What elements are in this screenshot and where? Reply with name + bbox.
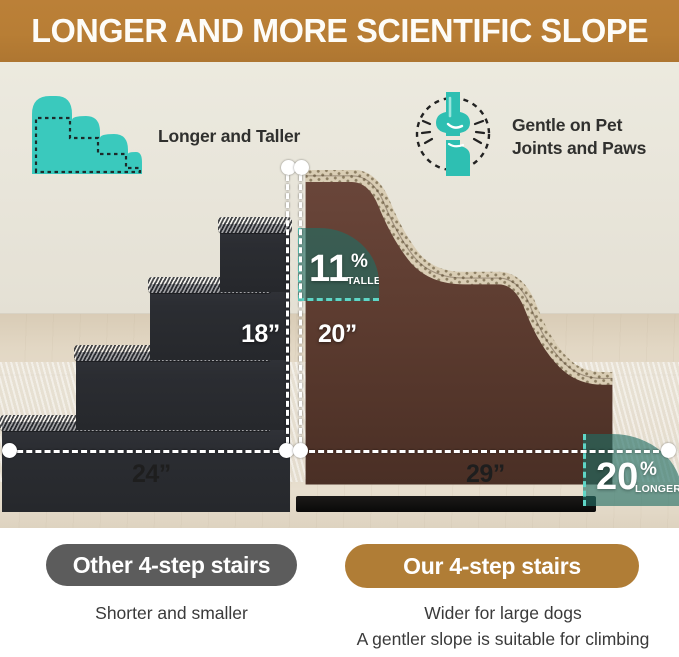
our-caption-line2: A gentler slope is suitable for climbing bbox=[333, 626, 673, 652]
taller-badge-unit: % bbox=[351, 252, 368, 271]
longer-badge-caption: LONGER bbox=[635, 484, 679, 495]
other-stairs-step-1 bbox=[2, 422, 290, 512]
our-stairs-base bbox=[296, 496, 596, 512]
feature-label-longer-taller: Longer and Taller bbox=[158, 125, 300, 147]
other-stairs-step-4-top bbox=[218, 217, 292, 233]
page-title: LONGER AND MORE SCIENTIFIC SLOPE bbox=[31, 12, 648, 50]
our-stairs-caption: Wider for large dogs A gentler slope is … bbox=[333, 600, 673, 653]
comparison-section: Other 4-step stairs Our 4-step stairs Sh… bbox=[0, 528, 679, 657]
feature-longer-taller: Longer and Taller bbox=[28, 92, 300, 181]
our-stairs-product bbox=[296, 170, 622, 512]
other-stairs-step-3 bbox=[150, 284, 290, 360]
stairs-comparison-icon bbox=[28, 92, 144, 181]
other-caption-line1: Shorter and smaller bbox=[30, 600, 313, 626]
taller-badge-value: 11 bbox=[309, 250, 349, 288]
other-stairs-pill: Other 4-step stairs bbox=[46, 544, 297, 586]
infographic-root: LONGER AND MORE SCIENTIFIC SLOPE Longer … bbox=[0, 0, 679, 657]
longer-badge-unit: % bbox=[640, 460, 657, 479]
our-stairs-silhouette bbox=[296, 170, 622, 500]
other-stairs-step-2 bbox=[76, 352, 290, 430]
our-stairs-pill: Our 4-step stairs bbox=[345, 544, 639, 588]
longer-badge-value: 20 bbox=[596, 458, 638, 496]
feature-label-line2: Joints and Paws bbox=[512, 138, 646, 158]
feature-label-gentle-joints: Gentle on Pet Joints and Paws bbox=[512, 114, 646, 159]
other-stairs-product bbox=[0, 222, 290, 512]
other-stairs-caption: Shorter and smaller bbox=[30, 600, 313, 626]
our-caption-line1: Wider for large dogs bbox=[333, 600, 673, 626]
product-scene: Longer and Taller Gentl bbox=[0, 62, 679, 528]
taller-badge-caption: TALLER bbox=[347, 276, 379, 287]
header-banner: LONGER AND MORE SCIENTIFIC SLOPE bbox=[0, 0, 679, 62]
other-stairs-step-4 bbox=[220, 224, 290, 292]
feature-label-line1: Gentle on Pet bbox=[512, 115, 622, 135]
